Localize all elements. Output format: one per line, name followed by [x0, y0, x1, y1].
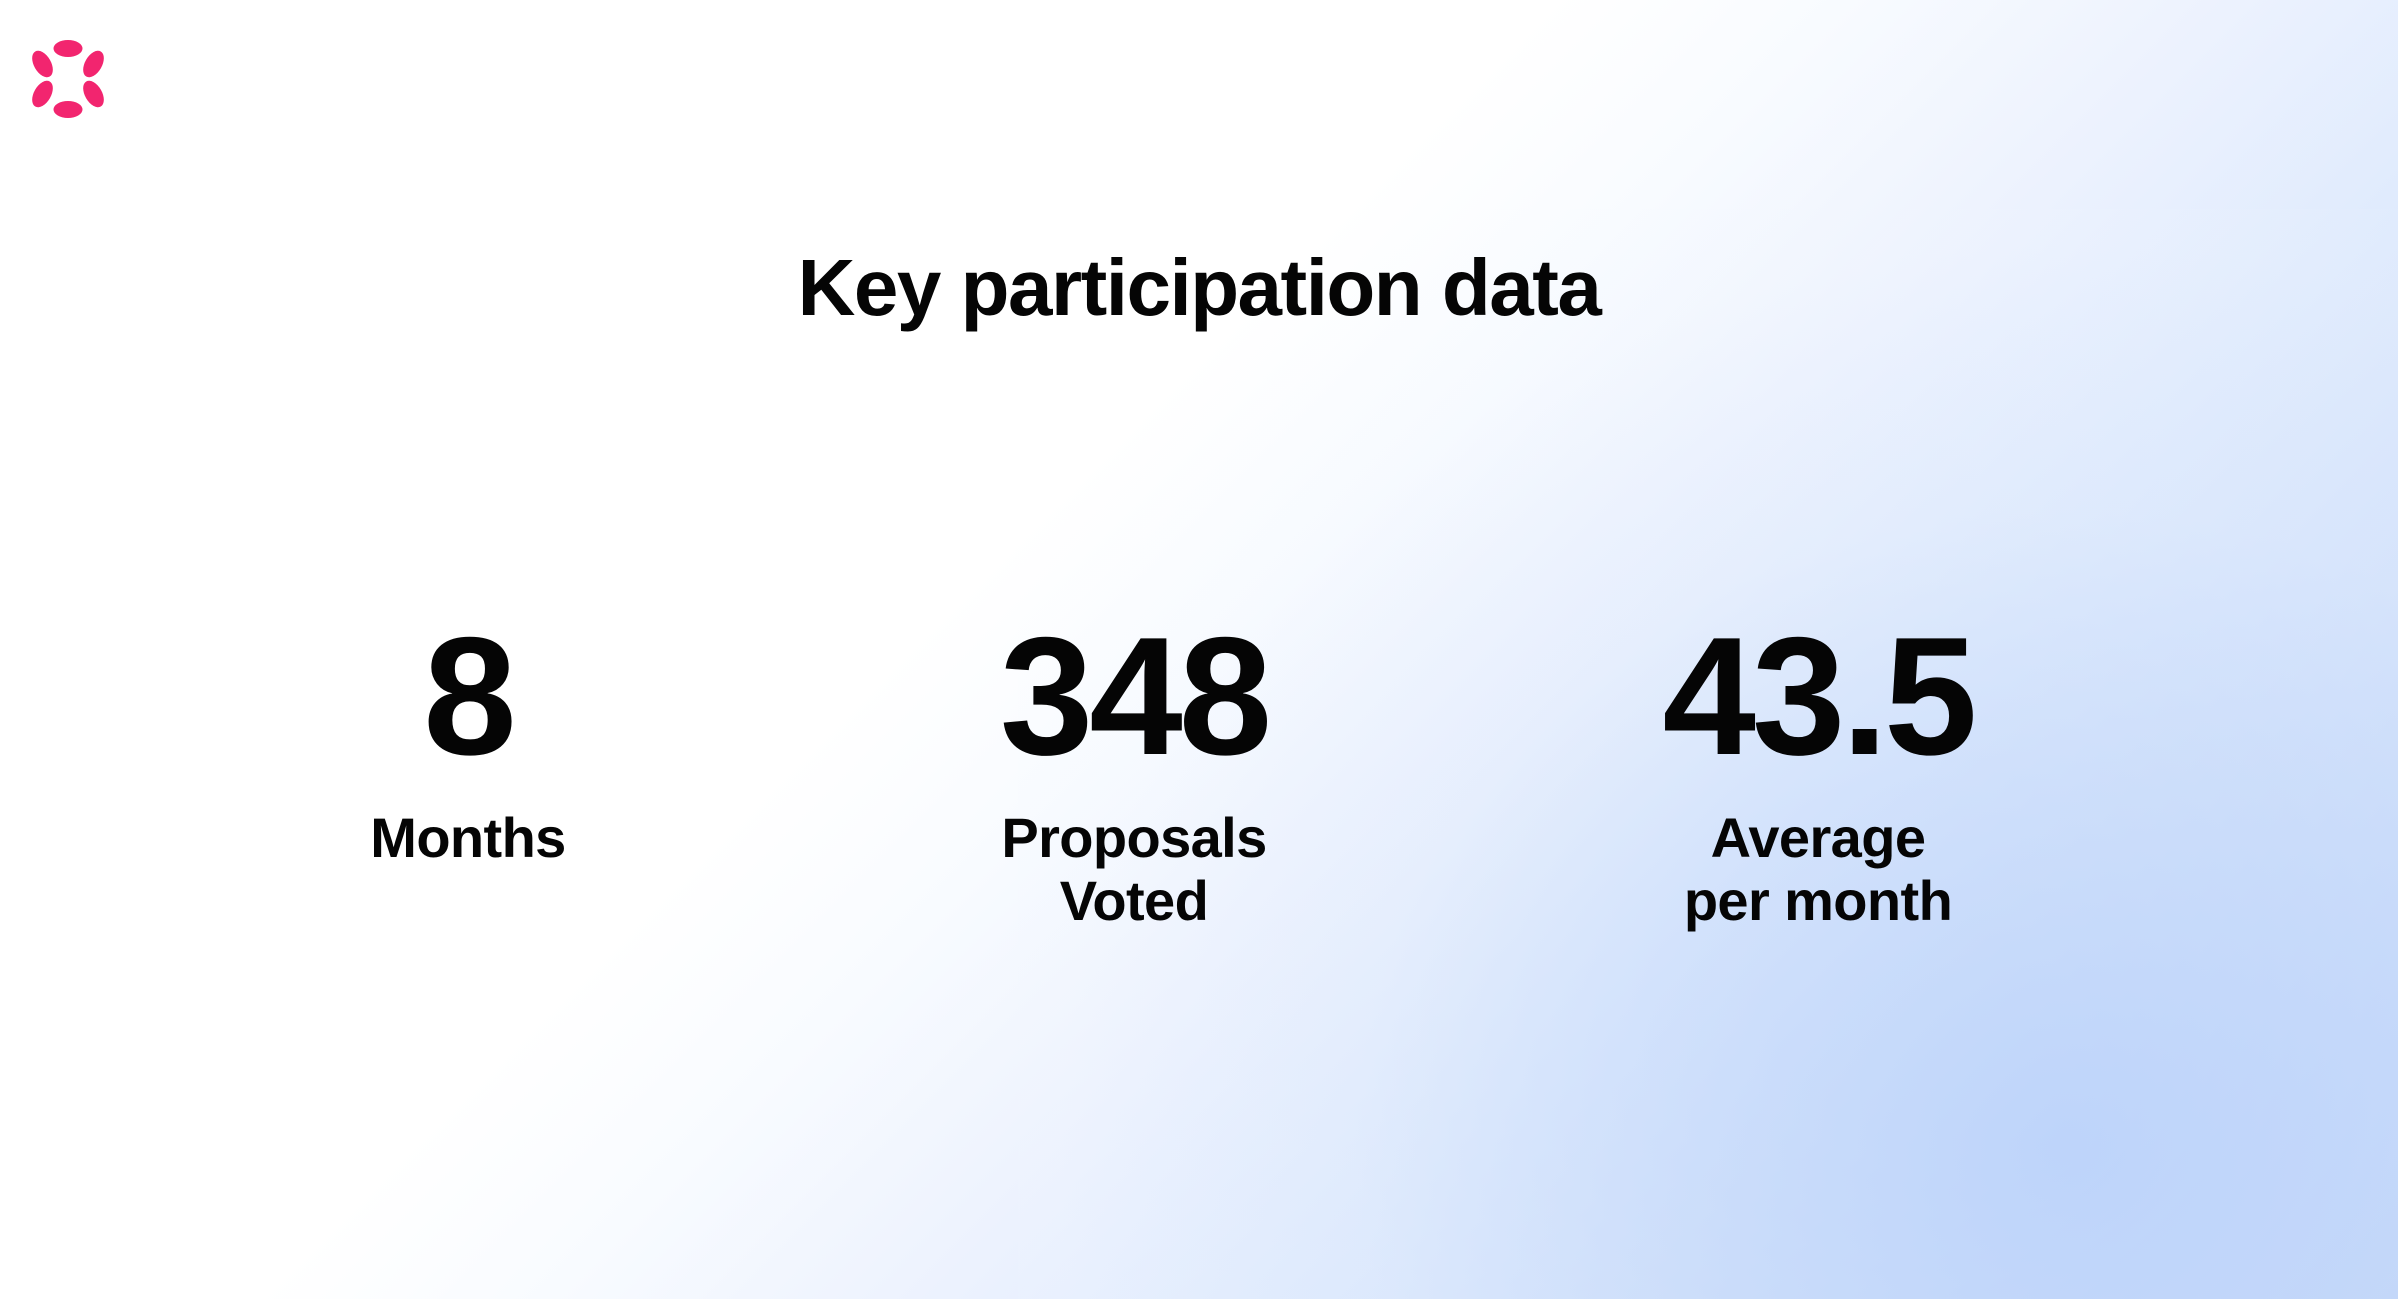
stat-item-average-per-month: 43.5 Average per month [1498, 612, 2138, 933]
stat-item-months: 8 Months [208, 612, 728, 869]
stat-label-line: Voted [824, 869, 1444, 932]
stat-label-line: Months [208, 806, 728, 869]
slide-canvas: Key participation data 8 Months 348 Prop… [0, 0, 2398, 1299]
stat-label-line: per month [1498, 869, 2138, 932]
stat-label: Proposals Voted [824, 806, 1444, 933]
stats-row: 8 Months 348 Proposals Voted 43.5 Averag… [0, 612, 2398, 1042]
stat-item-proposals-voted: 348 Proposals Voted [824, 612, 1444, 933]
stat-value: 348 [824, 612, 1444, 780]
stat-label: Average per month [1498, 806, 2138, 933]
stat-label-line: Average [1498, 806, 2138, 869]
stat-value: 43.5 [1498, 612, 2138, 780]
polkadot-logo [28, 38, 108, 120]
stat-label-line: Proposals [824, 806, 1444, 869]
stat-label: Months [208, 806, 728, 869]
page-title: Key participation data [0, 244, 2398, 332]
stat-value: 8 [208, 612, 728, 780]
